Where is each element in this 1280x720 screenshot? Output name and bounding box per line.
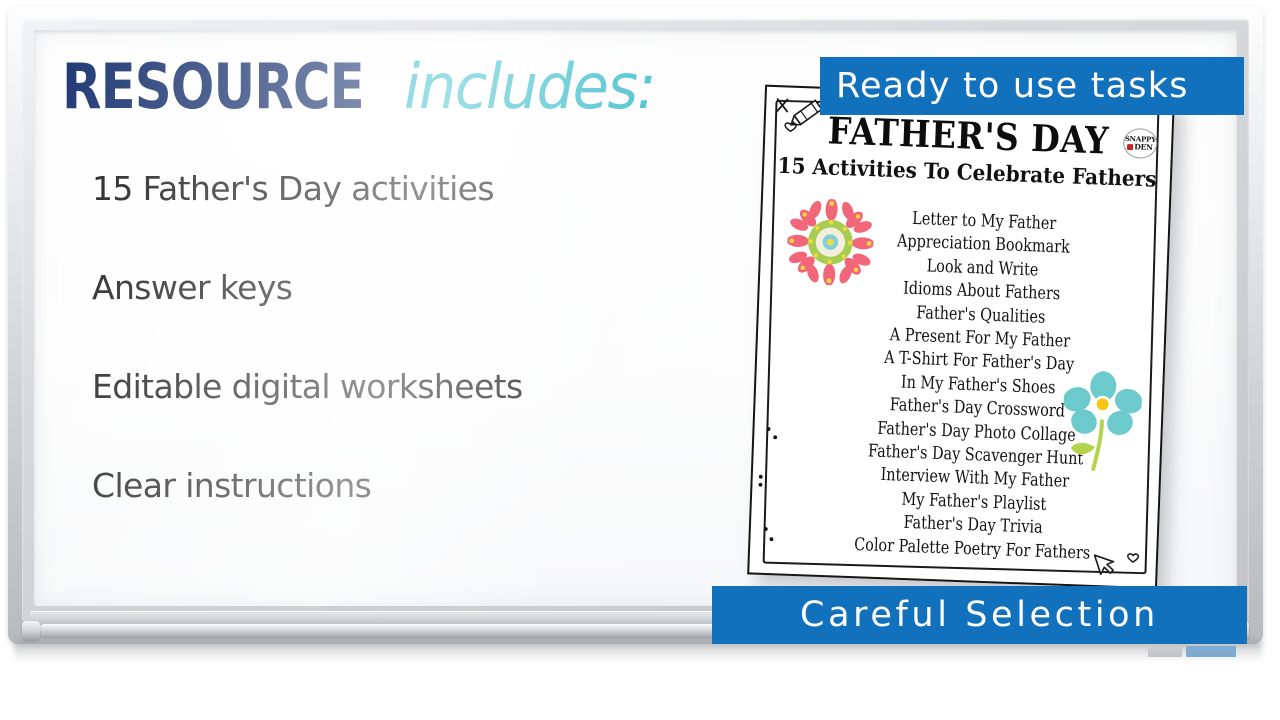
watermark-part-left <box>1148 646 1182 657</box>
dot-doodles <box>753 417 784 568</box>
watermark-part-right <box>1186 646 1236 657</box>
list-item: 15 Father's Day activities <box>92 172 712 205</box>
watermark-strip <box>1148 646 1240 657</box>
badge-ready-to-use-tasks: Ready to use tasks <box>820 57 1244 115</box>
marker-tray-cap-left <box>22 621 40 640</box>
title-word-includes: includes: <box>404 56 655 118</box>
cursor-arrow-doodle-icon <box>1091 545 1146 581</box>
worksheet-preview[interactable]: FATHER'S DAY 15 Activities To Celebrate … <box>747 85 1175 590</box>
list-item: Editable digital worksheets <box>92 370 712 403</box>
badge-careful-selection: Careful Selection <box>712 586 1247 644</box>
page-title: RESOURCEincludes: <box>62 56 668 119</box>
list-item: Answer keys <box>92 271 712 304</box>
teal-flower-icon <box>1061 368 1143 477</box>
list-item: Clear instructions <box>92 469 712 502</box>
logo-line-2: DEN <box>1134 142 1153 152</box>
title-word-resource: RESOURCE <box>62 56 364 118</box>
worksheet-page: FATHER'S DAY 15 Activities To Celebrate … <box>747 85 1175 590</box>
feature-list: 15 Father's Day activities Answer keys E… <box>92 172 712 502</box>
slide-canvas: RESOURCEincludes: 15 Father's Day activi… <box>0 0 1280 720</box>
